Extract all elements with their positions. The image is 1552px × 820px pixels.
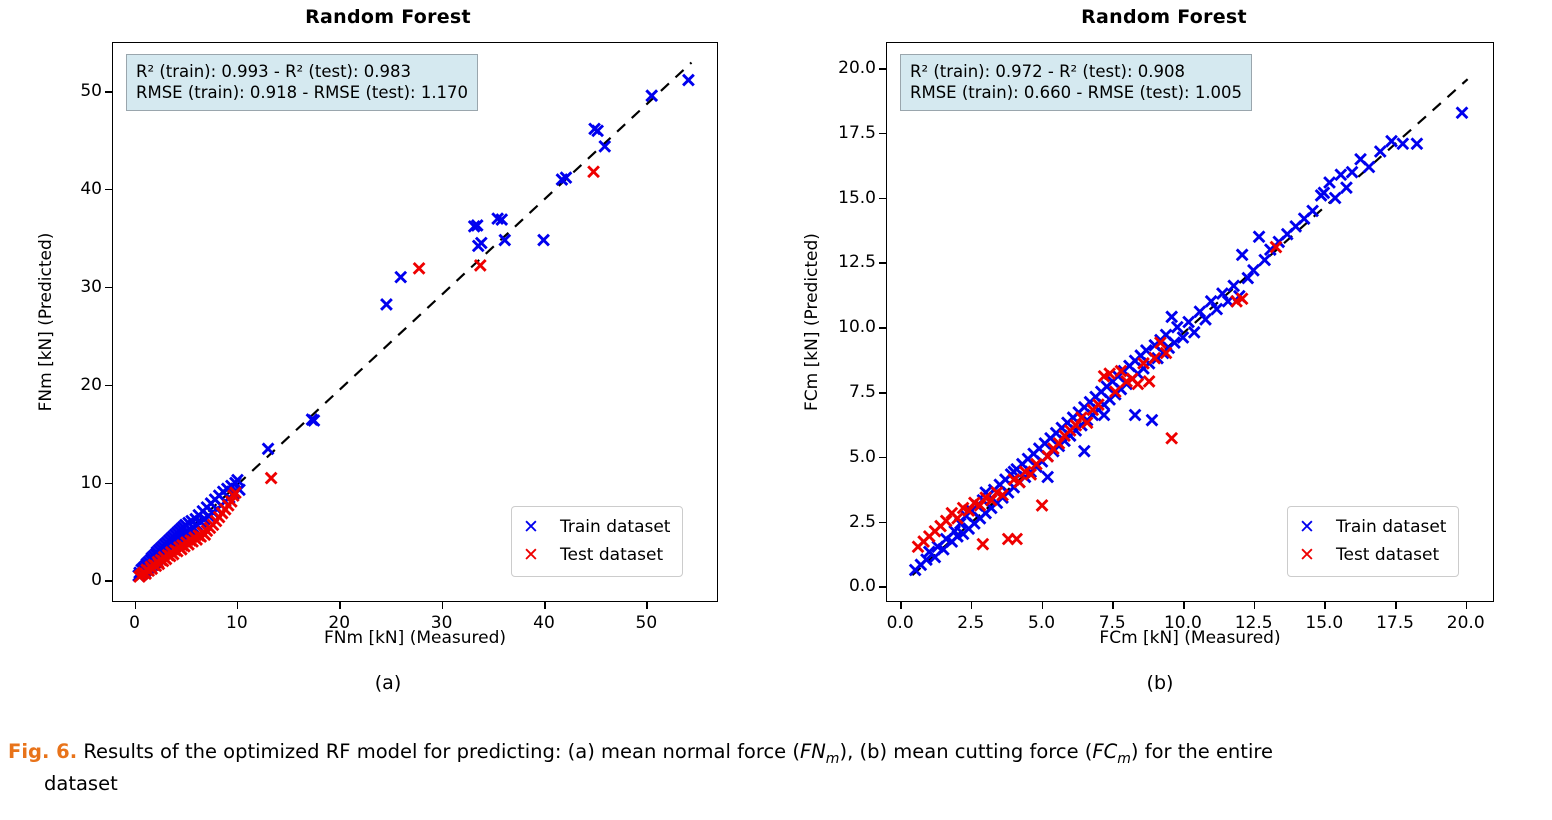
x-tickmark [1395,602,1397,609]
panel-a-xaxis-label: FNm [kN] (Measured) [112,628,718,648]
y-tickmark [105,189,112,191]
panel-a-legend: ✕ Train dataset ✕ Test dataset [511,506,683,577]
y-tickmark [879,68,886,70]
x-tick-label: 5.0 [1028,613,1055,633]
figure-number: Fig. 6. [8,740,77,763]
legend-label-test: Test dataset [1336,543,1439,568]
caption-fn-symbol: FN [800,740,826,763]
y-tickmark [879,522,886,524]
y-tick-label: 50 [26,81,102,101]
y-tick-label: 5.0 [800,447,876,467]
y-tickmark [105,385,112,387]
y-tickmark [879,586,886,588]
y-tickmark [105,580,112,582]
panel-b: Random Forest R² (train): 0.972 - R² (te… [776,0,1552,730]
legend-label-train: Train dataset [560,515,670,540]
x-tickmark [1183,602,1185,609]
y-tickmark [879,133,886,135]
x-tick-label: 0.0 [887,613,914,633]
panel-a-rmse-line: RMSE (train): 0.918 - RMSE (test): 1.170 [136,82,468,103]
caption-text-1: Results of the optimized RF model for pr… [83,740,800,763]
panel-b-legend: ✕ Train dataset ✕ Test dataset [1287,506,1459,577]
x-tick-label: 12.5 [1235,613,1273,633]
legend-entry-train: ✕ Train dataset [522,514,670,542]
y-tickmark [105,287,112,289]
y-tick-label: 30 [26,277,102,297]
caption-fc-symbol: FC [1092,740,1117,763]
x-tickmark [1254,602,1256,609]
x-tick-label: 7.5 [1099,613,1126,633]
y-tick-label: 17.5 [800,123,876,143]
x-tick-label: 50 [636,613,658,633]
x-tickmark [971,602,973,609]
y-tick-label: 10 [26,473,102,493]
panel-a-title: Random Forest [0,6,776,28]
y-tickmark [879,457,886,459]
y-tick-label: 10.0 [800,317,876,337]
legend-entry-train: ✕ Train dataset [1298,514,1446,542]
y-tick-label: 0.0 [800,576,876,596]
y-tickmark [105,91,112,93]
panel-b-r2-line: R² (train): 0.972 - R² (test): 0.908 [910,61,1242,82]
x-tick-label: 10 [226,613,248,633]
y-tick-label: 15.0 [800,188,876,208]
y-tick-label: 20.0 [800,58,876,78]
x-tickmark [237,602,239,609]
caption-line-2: dataset [44,770,1544,798]
panel-b-sublabel: (b) [1060,672,1260,694]
x-tick-label: 0 [129,613,140,633]
y-tickmark [879,392,886,394]
x-tick-label: 20.0 [1447,613,1485,633]
train-marker-icon: ✕ [1298,514,1316,542]
y-tick-label: 2.5 [800,512,876,532]
legend-label-test: Test dataset [560,543,663,568]
x-tick-label: 10.0 [1164,613,1202,633]
x-tickmark [544,602,546,609]
x-tick-label: 17.5 [1376,613,1414,633]
x-tickmark [1324,602,1326,609]
x-tickmark [339,602,341,609]
y-tick-label: 40 [26,179,102,199]
panel-a-sublabel: (a) [288,672,488,694]
test-marker-icon: ✕ [1298,542,1316,570]
y-tick-label: 0 [26,570,102,590]
panel-a-r2-line: R² (train): 0.993 - R² (test): 0.983 [136,61,468,82]
panel-b-stats-box: R² (train): 0.972 - R² (test): 0.908 RMS… [900,54,1252,111]
x-tickmark [900,602,902,609]
caption-fc-subscript: m [1117,751,1131,767]
y-tick-label: 12.5 [800,252,876,272]
x-tickmark [1466,602,1468,609]
train-marker-icon: ✕ [522,514,540,542]
y-tick-label: 7.5 [800,382,876,402]
panel-a-yaxis-label: FNm [kN] (Predicted) [36,42,56,602]
caption-fn-subscript: m [826,751,840,767]
panel-b-title: Random Forest [776,6,1552,28]
panel-a-stats-box: R² (train): 0.993 - R² (test): 0.983 RMS… [126,54,478,111]
caption-text-2: ), (b) mean cutting force ( [839,740,1092,763]
caption-text-3: ) for the entire [1131,740,1273,763]
x-tickmark [1042,602,1044,609]
x-tickmark [442,602,444,609]
x-tickmark [135,602,137,609]
x-tick-label: 40 [533,613,555,633]
panel-a: Random Forest R² (train): 0.993 - R² (te… [0,0,776,730]
x-tick-label: 2.5 [957,613,984,633]
x-tick-label: 15.0 [1305,613,1343,633]
figure-caption: Fig. 6. Results of the optimized RF mode… [8,738,1544,798]
legend-entry-test: ✕ Test dataset [1298,542,1446,570]
y-tickmark [879,262,886,264]
y-tickmark [879,327,886,329]
y-tickmark [105,483,112,485]
test-marker-icon: ✕ [522,542,540,570]
legend-label-train: Train dataset [1336,515,1446,540]
figure-panels: Random Forest R² (train): 0.993 - R² (te… [0,0,1552,730]
legend-entry-test: ✕ Test dataset [522,542,670,570]
panel-b-rmse-line: RMSE (train): 0.660 - RMSE (test): 1.005 [910,82,1242,103]
x-tick-label: 30 [431,613,453,633]
x-tickmark [1112,602,1114,609]
x-tick-label: 20 [328,613,350,633]
y-tick-label: 20 [26,375,102,395]
x-tickmark [646,602,648,609]
y-tickmark [879,198,886,200]
